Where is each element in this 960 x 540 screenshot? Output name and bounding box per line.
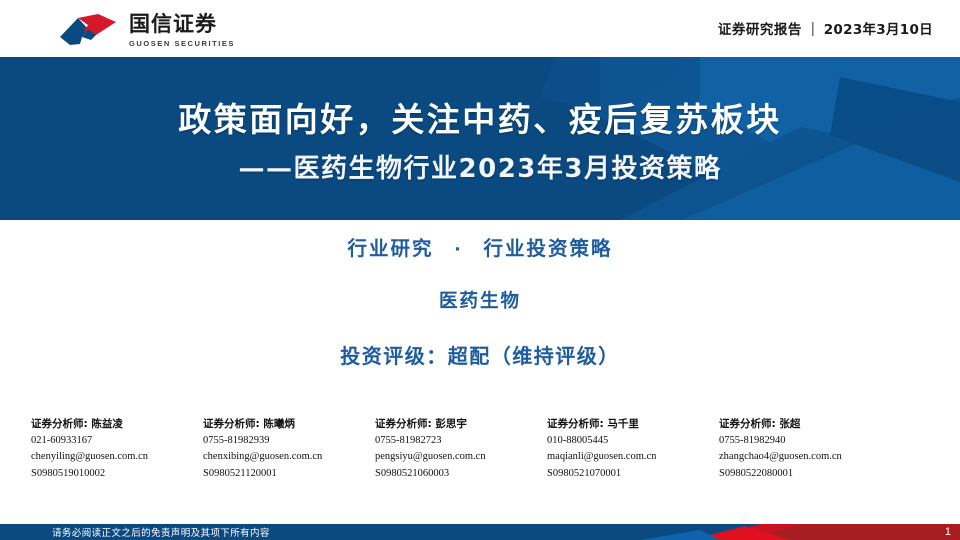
middle-dot-separator: · (454, 240, 462, 260)
analyst-phone: 0755-81982723 (375, 436, 545, 447)
analyst-name: 证券分析师: 彭思宇 (375, 419, 545, 430)
brand-name-cn: 国信证券 (129, 13, 235, 36)
analyst-name: 证券分析师: 马千里 (547, 419, 717, 430)
page-header: 国信证券 GUOSEN SECURITIES 证券研究报告 | 2023年3月1… (0, 0, 960, 57)
investment-rating: 投资评级：超配（维持评级） (340, 340, 620, 369)
page-number: 1 (945, 524, 951, 540)
analyst-card: 证券分析师: 陈曦炳 0755-81982939 chenxibing@guos… (203, 419, 373, 479)
analyst-phone: 010-88005445 (547, 436, 717, 447)
research-type-label: 行业研究 (347, 237, 433, 260)
brand-name-en: GUOSEN SECURITIES (129, 39, 235, 48)
analyst-email[interactable]: zhangchao4@guosen.com.cn (719, 452, 889, 463)
analyst-email[interactable]: chenxibing@guosen.com.cn (203, 452, 373, 463)
strategy-type-label: 行业投资策略 (484, 237, 613, 260)
analyst-list: 证券分析师: 陈益凌 021-60933167 chenyiling@guose… (31, 419, 931, 479)
analyst-name: 证券分析师: 陈益凌 (31, 419, 201, 430)
research-category-line: 行业研究 · 行业投资策略 (347, 232, 612, 261)
analyst-phone: 021-60933167 (31, 436, 201, 447)
analyst-license: S0980521060003 (375, 469, 545, 480)
analyst-card: 证券分析师: 张超 0755-81982940 zhangchao4@guose… (719, 419, 889, 479)
analyst-license: S0980522080001 (719, 469, 889, 480)
report-meta-block: 行业研究 · 行业投资策略 医药生物 投资评级：超配（维持评级） (0, 232, 960, 369)
analyst-name: 证券分析师: 张超 (719, 419, 889, 430)
analyst-phone: 0755-81982939 (203, 436, 373, 447)
footer-disclaimer: 请务必阅读正文之后的免责声明及其项下所有内容 (52, 524, 270, 540)
brand-wordmark: 国信证券 GUOSEN SECURITIES (129, 13, 235, 48)
report-date: 2023年3月10日 (824, 18, 933, 38)
analyst-email[interactable]: pengsiyu@guosen.com.cn (375, 452, 545, 463)
analyst-email[interactable]: maqianli@guosen.com.cn (547, 452, 717, 463)
analyst-card: 证券分析师: 陈益凌 021-60933167 chenyiling@guose… (31, 419, 201, 479)
report-subtitle: ——医药生物行业2023年3月投资策略 (239, 148, 722, 185)
analyst-card: 证券分析师: 彭思宇 0755-81982723 pengsiyu@guosen… (375, 419, 545, 479)
industry-label: 医药生物 (439, 287, 521, 313)
analyst-phone: 0755-81982940 (719, 436, 889, 447)
analyst-license: S0980521120001 (203, 469, 373, 480)
guosen-logo-icon (58, 13, 120, 47)
analyst-card: 证券分析师: 马千里 010-88005445 maqianli@guosen.… (547, 419, 717, 479)
page-footer: 请务必阅读正文之后的免责声明及其项下所有内容 1 (0, 524, 960, 540)
brand-logo: 国信证券 GUOSEN SECURITIES (58, 13, 235, 48)
header-meta: 证券研究报告 | 2023年3月10日 (718, 18, 933, 38)
hero-text-block: 政策面向好，关注中药、疫后复苏板块 ——医药生物行业2023年3月投资策略 (0, 57, 960, 220)
analyst-email[interactable]: chenyiling@guosen.com.cn (31, 452, 201, 463)
analyst-license: S0980521070001 (547, 469, 717, 480)
report-title: 政策面向好，关注中药、疫后复苏板块 (178, 93, 782, 141)
header-separator: | (811, 20, 815, 37)
report-type-label: 证券研究报告 (718, 18, 802, 38)
analyst-license: S0980519010002 (31, 469, 201, 480)
hero-banner: 政策面向好，关注中药、疫后复苏板块 ——医药生物行业2023年3月投资策略 (0, 57, 960, 220)
analyst-name: 证券分析师: 陈曦炳 (203, 419, 373, 430)
